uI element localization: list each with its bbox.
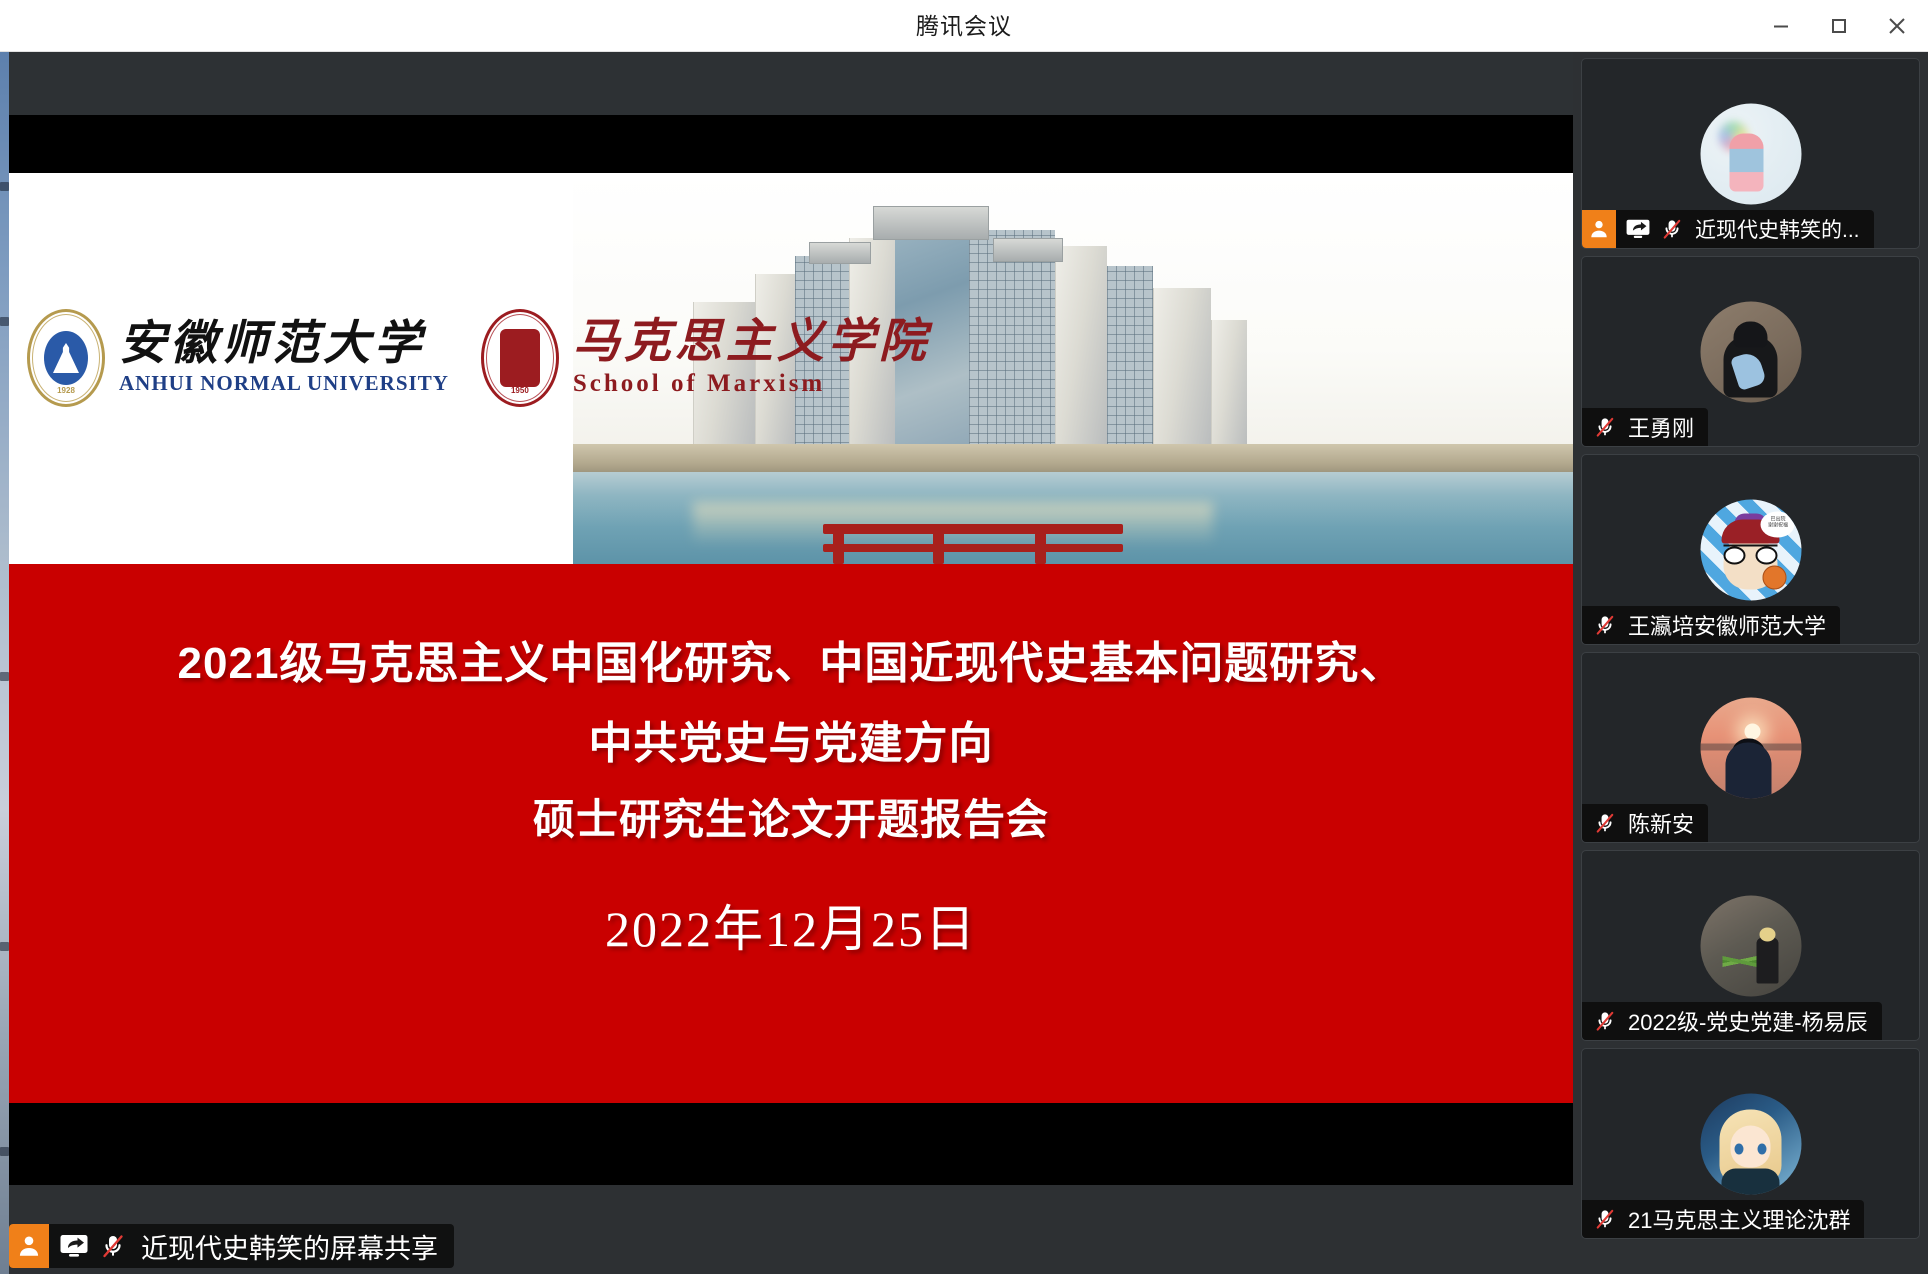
participant-tile[interactable]: 巴出院谢谢祝福 王瀛培安徽师范大学 bbox=[1581, 454, 1920, 645]
screen-share-icon bbox=[1625, 218, 1651, 240]
red-railing bbox=[823, 520, 1153, 564]
mic-muted-icon bbox=[1593, 1009, 1617, 1033]
anhui-normal-university-seal: 1928 bbox=[27, 309, 105, 407]
minimize-button[interactable] bbox=[1752, 0, 1810, 52]
desktop-icon bbox=[0, 1147, 9, 1156]
participant-nameplate: 陈新安 bbox=[1582, 804, 1708, 842]
host-person-icon bbox=[9, 1224, 49, 1268]
building-wing-right bbox=[1153, 288, 1211, 452]
university-name-cn: 安徽师范大学 bbox=[119, 320, 449, 369]
mic-muted-icon bbox=[1593, 811, 1617, 835]
participant-name: 21马克思主义理论沈群 bbox=[1628, 1203, 1850, 1235]
participant-name: 王勇刚 bbox=[1628, 411, 1694, 443]
participant-tile[interactable]: 王勇刚 bbox=[1581, 256, 1920, 447]
school-name-en: School of Marxism bbox=[573, 370, 930, 398]
university-logo-text: 安徽师范大学 ANHUI NORMAL UNIVERSITY bbox=[119, 320, 449, 396]
participant-video-strip[interactable]: 近现代史韩笑的... 王勇刚 巴出院谢谢 bbox=[1573, 52, 1928, 1274]
building-facade-grid-center bbox=[969, 230, 1055, 452]
mic-muted-icon bbox=[1593, 1207, 1617, 1231]
host-person-icon bbox=[1582, 210, 1616, 248]
maximize-button[interactable] bbox=[1810, 0, 1868, 52]
letterbox-bottom bbox=[9, 1103, 1573, 1185]
letterbox-top bbox=[9, 115, 1573, 173]
slide-date: 2022年12月25日 bbox=[9, 889, 1573, 961]
participant-tile[interactable]: 近现代史韩笑的... bbox=[1581, 58, 1920, 249]
participant-tile[interactable]: 2022级-党史党建-杨易辰 bbox=[1581, 850, 1920, 1041]
school-logo-text: 马克思主义学院 School of Marxism bbox=[573, 318, 930, 397]
slide-logo-row: 1928 安徽师范大学 ANHUI NORMAL UNIVERSITY 1950… bbox=[27, 283, 847, 433]
building-wing-right-b bbox=[1211, 320, 1247, 452]
mic-muted-icon bbox=[1593, 415, 1617, 439]
participant-name: 王瀛培安徽师范大学 bbox=[1628, 609, 1826, 641]
avatar bbox=[1700, 301, 1801, 402]
participant-nameplate: 2022级-党史党建-杨易辰 bbox=[1582, 1002, 1882, 1040]
mic-muted-icon bbox=[1593, 613, 1617, 637]
window-title-bar: 腾讯会议 bbox=[0, 0, 1928, 52]
participant-nameplate: 王勇刚 bbox=[1582, 408, 1708, 446]
close-icon bbox=[1885, 14, 1909, 38]
mic-muted-icon bbox=[99, 1232, 127, 1260]
presentation-slide: 1928 安徽师范大学 ANHUI NORMAL UNIVERSITY 1950… bbox=[9, 173, 1573, 1103]
rooftop-structure-a bbox=[873, 206, 989, 240]
avatar bbox=[1700, 697, 1801, 798]
participant-name: 近现代史韩笑的... bbox=[1695, 214, 1860, 244]
slide-title-band: 2021级马克思主义中国化研究、中国近现代史基本问题研究、 中共党史与党建方向 … bbox=[9, 564, 1573, 1103]
school-of-marxism-seal: 1950 bbox=[481, 309, 559, 407]
building-facade-grid-right bbox=[1107, 266, 1153, 452]
sharer-name-label: 近现代史韩笑的屏幕共享 bbox=[141, 1227, 438, 1266]
app-title: 腾讯会议 bbox=[0, 0, 1928, 52]
school-seal-year: 1950 bbox=[484, 386, 556, 395]
desktop-icon bbox=[0, 182, 9, 191]
participant-tile[interactable]: 21马克思主义理论沈群 bbox=[1581, 1048, 1920, 1239]
participant-tile[interactable]: 陈新安 bbox=[1581, 652, 1920, 843]
participant-nameplate: 21马克思主义理论沈群 bbox=[1582, 1200, 1864, 1238]
participant-name: 2022级-党史党建-杨易辰 bbox=[1628, 1005, 1868, 1037]
desktop-background-sliver bbox=[0, 52, 9, 1274]
mic-muted-icon bbox=[1660, 217, 1684, 241]
slide-title-line-1: 2021级马克思主义中国化研究、中国近现代史基本问题研究、 bbox=[9, 627, 1573, 691]
rooftop-structure-b bbox=[809, 242, 871, 264]
shared-desktop-top-strip bbox=[9, 52, 1573, 115]
slide-header-band: 1928 安徽师范大学 ANHUI NORMAL UNIVERSITY 1950… bbox=[9, 173, 1573, 564]
maximize-icon bbox=[1828, 15, 1850, 37]
desktop-icon bbox=[0, 317, 9, 326]
participant-nameplate: 王瀛培安徽师范大学 bbox=[1582, 606, 1840, 644]
rooftop-structure-c bbox=[993, 238, 1063, 262]
desktop-icon bbox=[0, 672, 9, 681]
avatar bbox=[1700, 1093, 1801, 1194]
university-seal-year: 1928 bbox=[30, 386, 102, 395]
sharer-nameplate: 近现代史韩笑的屏幕共享 bbox=[9, 1224, 454, 1268]
building-core-right bbox=[1055, 246, 1107, 452]
desktop-icon bbox=[0, 942, 9, 951]
slide-title-line-2: 中共党史与党建方向 bbox=[9, 707, 1573, 771]
shared-screen-viewport[interactable]: 1928 安徽师范大学 ANHUI NORMAL UNIVERSITY 1950… bbox=[9, 52, 1573, 1274]
avatar bbox=[1700, 895, 1801, 996]
avatar: 巴出院谢谢祝福 bbox=[1700, 499, 1801, 600]
participant-name: 陈新安 bbox=[1628, 807, 1694, 839]
school-name-cn: 马克思主义学院 bbox=[573, 318, 930, 367]
avatar-speech-bubble: 巴出院谢谢祝福 bbox=[1761, 511, 1795, 537]
university-name-en: ANHUI NORMAL UNIVERSITY bbox=[119, 371, 449, 396]
minimize-icon bbox=[1770, 15, 1792, 37]
close-button[interactable] bbox=[1868, 0, 1926, 52]
screen-share-icon bbox=[59, 1233, 89, 1259]
participant-nameplate: 近现代史韩笑的... bbox=[1582, 210, 1874, 248]
avatar bbox=[1700, 103, 1801, 204]
slide-title-line-3: 硕士研究生论文开题报告会 bbox=[9, 786, 1573, 847]
